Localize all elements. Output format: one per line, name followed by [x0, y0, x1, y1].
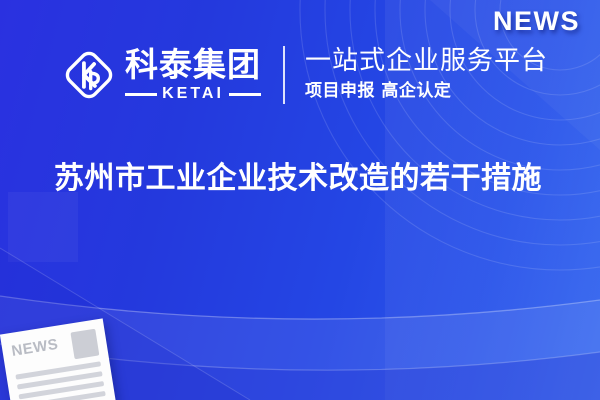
brand-wordmark: 科泰集团 KETAI — [125, 48, 261, 102]
background-accent-square — [8, 192, 78, 262]
newspaper-text-lines — [15, 361, 107, 400]
brand-tagline: 一站式企业服务平台 项目申报 高企认定 — [305, 47, 548, 102]
brand-name-en: KETAI — [162, 86, 224, 102]
logo-dash-right — [229, 93, 261, 96]
article-title[interactable]: 苏州市工业企业技术改造的若干措施 — [54, 156, 564, 203]
news-badge: NEWS — [493, 6, 580, 37]
brand-header: 科泰集团 KETAI 一站式企业服务平台 项目申报 高企认定 — [62, 42, 548, 108]
tagline-primary: 一站式企业服务平台 — [305, 47, 548, 76]
header-divider — [283, 46, 285, 104]
ketai-diamond-logo-icon — [62, 48, 116, 102]
brand-logo[interactable]: 科泰集团 KETAI — [62, 48, 261, 102]
tagline-secondary: 项目申报 高企认定 — [305, 80, 548, 103]
newspaper-heading: NEWS — [11, 337, 60, 359]
news-banner: NEWS 科泰集团 KETAI 一站式企业服务平台 项 — [0, 0, 600, 400]
logo-dash-left — [125, 93, 157, 96]
brand-name-en-row: KETAI — [125, 86, 261, 102]
newspaper-image-block — [70, 329, 99, 360]
brand-name-cn: 科泰集团 — [125, 48, 261, 81]
